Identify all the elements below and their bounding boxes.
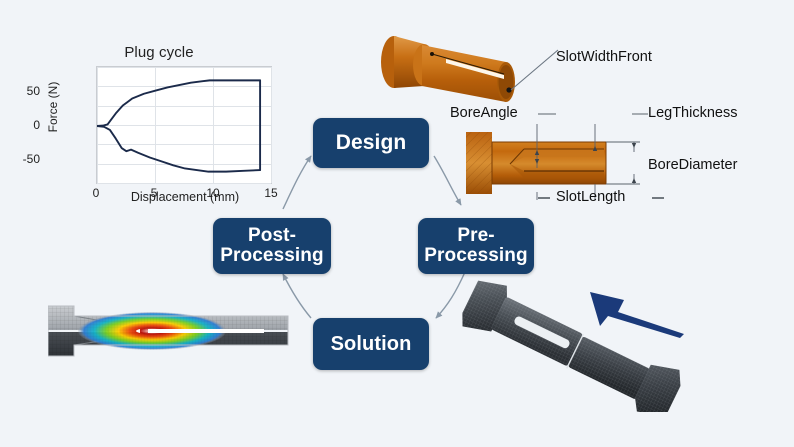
process-box-solution[interactable]: Solution: [313, 318, 429, 370]
workflow-diagram: Plug cycle 50 0 -50 0 5 10 15 Force (N) …: [0, 0, 794, 447]
process-box-post-processing-label-line2: Processing: [220, 246, 323, 266]
process-box-post-processing-label-line1: Post-: [248, 226, 296, 246]
process-box-post-processing[interactable]: Post- Processing: [213, 218, 331, 274]
process-box-design-label: Design: [336, 132, 407, 154]
workflow-arrows: [0, 0, 794, 447]
arrow-design-to-pre: [434, 156, 461, 205]
process-box-pre-processing[interactable]: Pre- Processing: [418, 218, 534, 274]
process-box-pre-processing-label-line2: Processing: [424, 246, 527, 266]
arrow-pre-to-solution: [436, 272, 465, 318]
process-box-pre-processing-label-line1: Pre-: [457, 226, 494, 246]
arrow-post-to-design: [283, 156, 311, 209]
process-box-solution-label: Solution: [331, 334, 412, 355]
process-box-design[interactable]: Design: [313, 118, 429, 168]
arrow-solution-to-post: [283, 274, 311, 318]
